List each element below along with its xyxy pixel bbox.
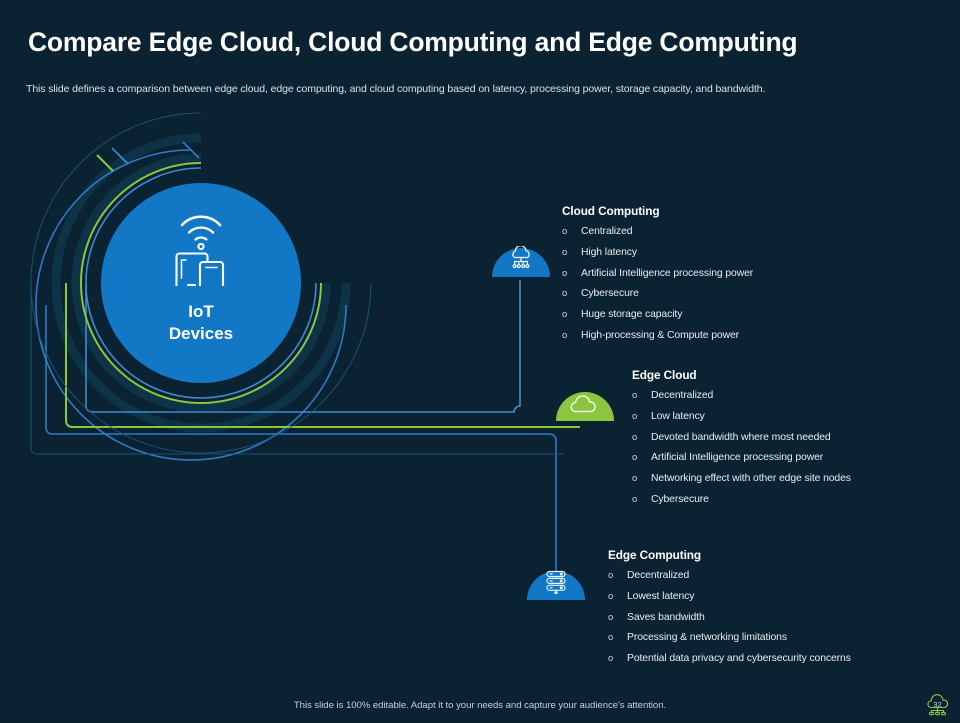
list-item: o Lowest latency [608,590,908,604]
list-item: o Networking effect with other edge site… [632,472,932,486]
iot-devices-hub[interactable]: IoT Devices [101,183,301,383]
list-item-label: Decentralized [627,569,908,583]
list-item: o Cybersecure [562,287,892,301]
section-bullet-list: o Decentralized o Lowest latency o Saves… [608,569,908,666]
list-item: o Processing & networking limitations [608,631,908,645]
list-item-label: Low latency [651,410,932,424]
bullet-marker: o [632,493,651,507]
iot-label-line1: IoT [169,301,233,323]
list-item: o Huge storage capacity [562,308,892,322]
list-item-label: Artificial Intelligence processing power [651,451,932,465]
page-number-badge: 32 [921,690,957,718]
section-edge-computing: Edge Computing o Decentralized o Lowest … [608,548,908,673]
bullet-marker: o [608,652,627,666]
cloud-icon [568,395,602,420]
list-item-label: Huge storage capacity [581,308,892,322]
cloud-network-icon [506,246,536,276]
bullet-marker: o [632,451,651,465]
list-item-label: Cybersecure [581,287,892,301]
wifi-tablet-phone-icon [166,208,236,291]
list-item: o Low latency [632,410,932,424]
list-item: o High-processing & Compute power [562,329,892,343]
server-stack-icon [542,569,570,599]
list-item: o Devoted bandwidth where most needed [632,431,932,445]
bullet-marker: o [562,287,581,301]
bullet-marker: o [608,611,627,625]
section-heading: Edge Computing [608,548,908,562]
list-item: o Centralized [562,225,892,239]
list-item-label: Lowest latency [627,590,908,604]
bullet-marker: o [562,246,581,260]
bullet-marker: o [632,472,651,486]
list-item-label: High-processing & Compute power [581,329,892,343]
section-cloud-computing: Cloud Computing o Centralized o High lat… [562,204,892,350]
list-item-label: Processing & networking limitations [627,631,908,645]
list-item: o Decentralized [608,569,908,583]
bullet-marker: o [608,569,627,583]
iot-devices-label: IoT Devices [169,301,233,344]
list-item: o Saves bandwidth [608,611,908,625]
bullet-marker: o [632,431,651,445]
page-number-text: 32 [933,700,941,709]
bullet-marker: o [632,389,651,403]
list-item-label: Networking effect with other edge site n… [651,472,932,486]
list-item: o Potential data privacy and cybersecuri… [608,652,908,666]
list-item-label: Decentralized [651,389,932,403]
section-heading: Cloud Computing [562,204,892,218]
section-bullet-list: o Decentralized o Low latency o Devoted … [632,389,932,507]
list-item-label: High latency [581,246,892,260]
list-item: o Artificial Intelligence processing pow… [562,267,892,281]
list-item-label: Devoted bandwidth where most needed [651,431,932,445]
list-item-label: Artificial Intelligence processing power [581,267,892,281]
bullet-marker: o [608,631,627,645]
bullet-marker: o [562,225,581,239]
bullet-marker: o [632,410,651,424]
list-item: o Artificial Intelligence processing pow… [632,451,932,465]
list-item-label: Saves bandwidth [627,611,908,625]
section-edge-cloud: Edge Cloud o Decentralized o Low latency… [632,368,932,514]
bullet-marker: o [562,329,581,343]
list-item: o Cybersecure [632,493,932,507]
list-item: o High latency [562,246,892,260]
bullet-marker: o [562,308,581,322]
list-item-label: Cybersecure [651,493,932,507]
iot-label-line2: Devices [169,323,233,345]
section-heading: Edge Cloud [632,368,932,382]
bullet-marker: o [608,590,627,604]
slide-canvas: Compare Edge Cloud, Cloud Computing and … [0,0,960,720]
list-item: o Decentralized [632,389,932,403]
section-bullet-list: o Centralized o High latency o Artificia… [562,225,892,343]
list-item-label: Centralized [581,225,892,239]
list-item-label: Potential data privacy and cybersecurity… [627,652,908,666]
bullet-marker: o [562,267,581,281]
footer-note: This slide is 100% editable. Adapt it to… [0,700,960,711]
